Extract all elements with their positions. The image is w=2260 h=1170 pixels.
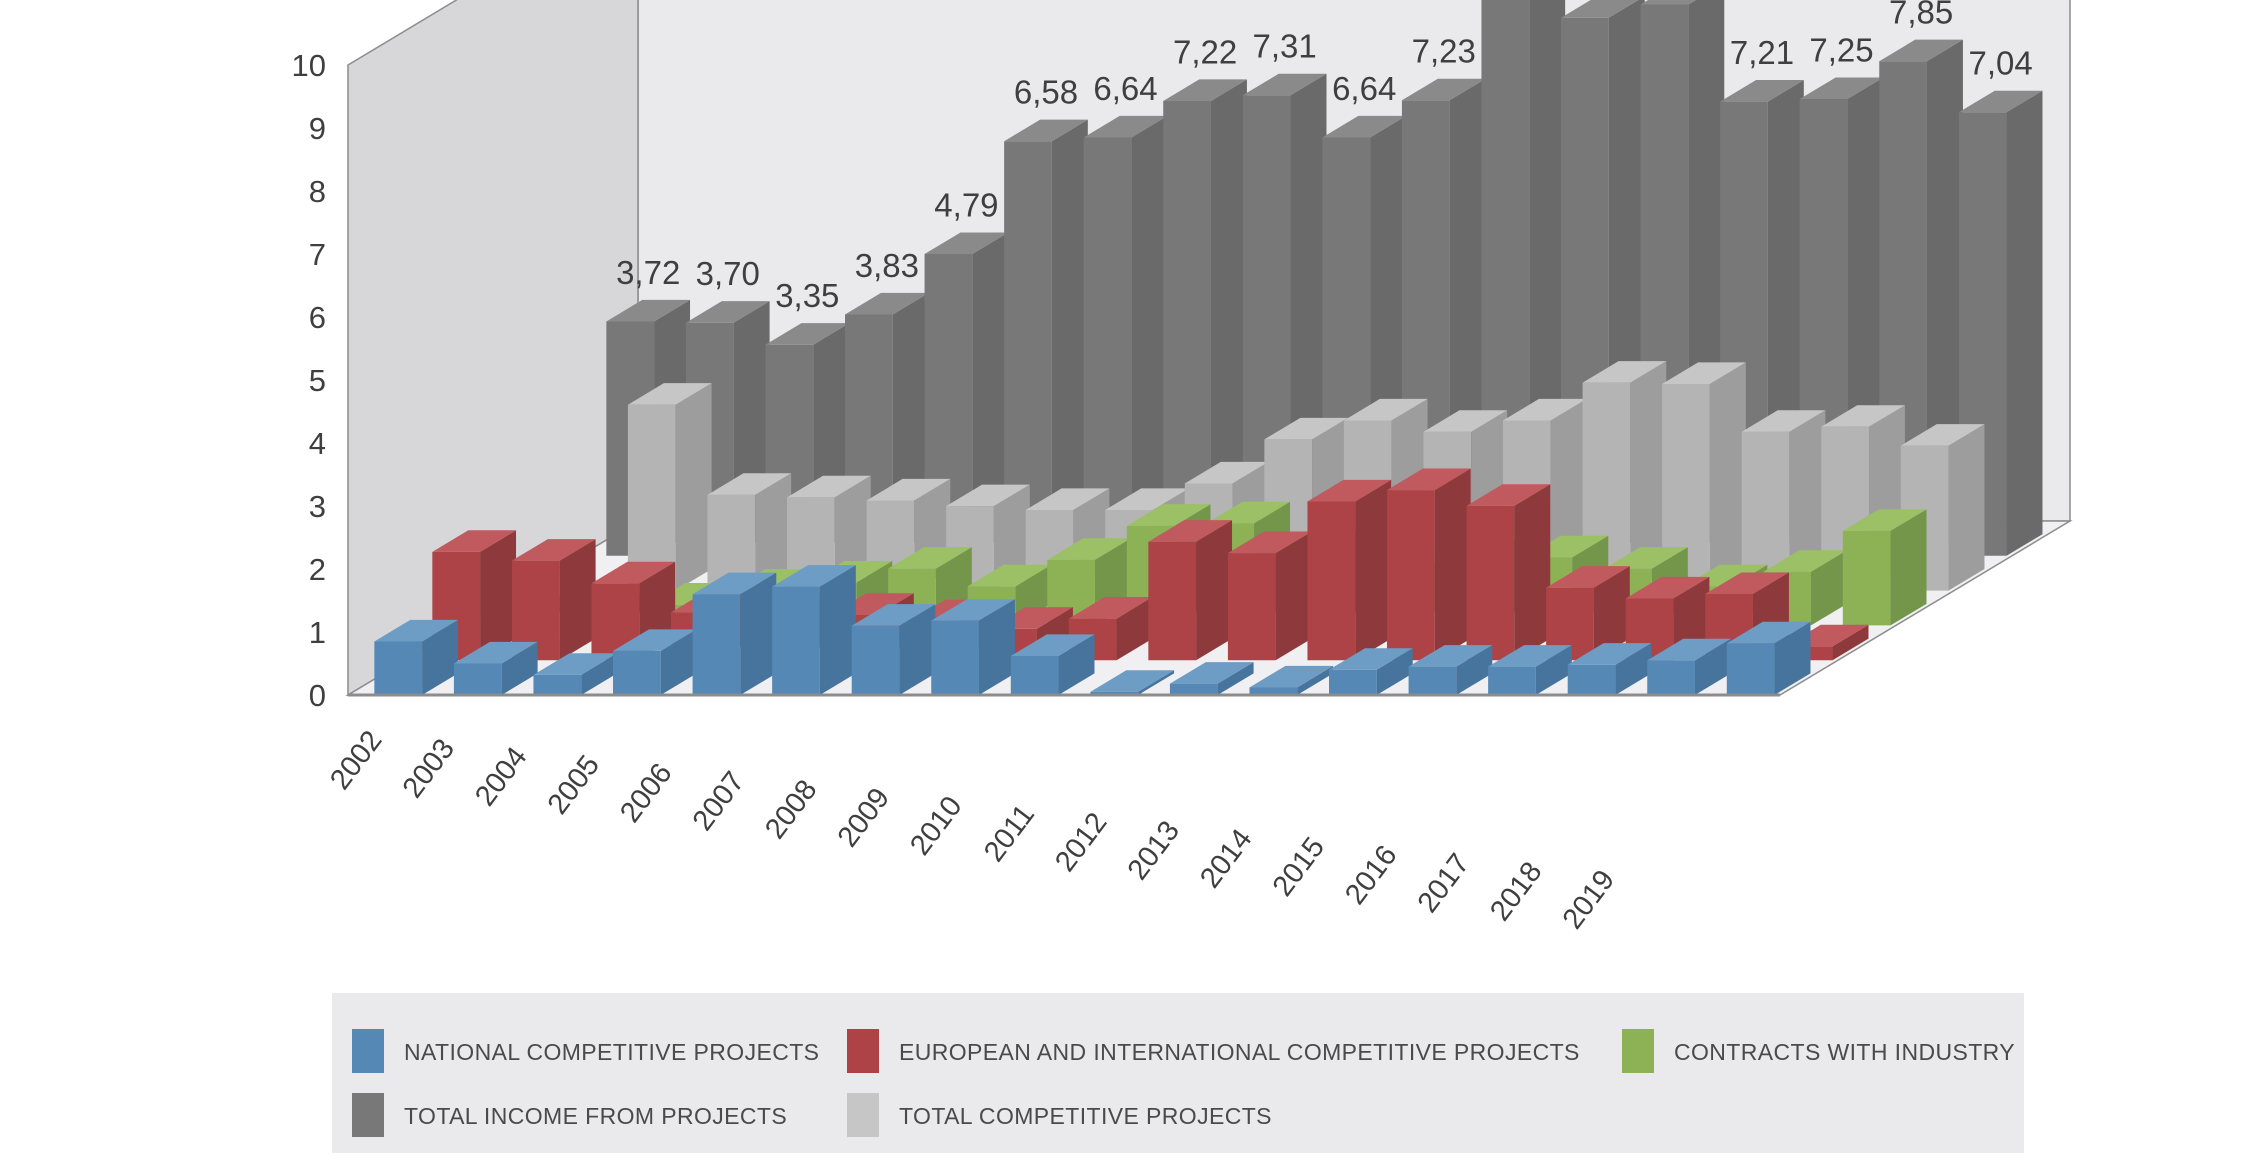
y-axis-tick-label: 5 (309, 363, 326, 398)
bar (772, 565, 856, 695)
legend-swatch (847, 1029, 879, 1073)
x-axis-category-label: 2010 (904, 791, 968, 862)
bar-front-face (1409, 667, 1457, 695)
y-axis-tick-label: 1 (309, 615, 326, 650)
x-axis-category-label: 2009 (832, 782, 896, 853)
bar-front-face (1647, 660, 1695, 695)
bar-front-face (1568, 665, 1616, 695)
bar-front-face (1488, 667, 1536, 695)
x-axis-category-label: 2019 (1557, 864, 1621, 935)
bar-value-label: 7,25 (1809, 31, 1873, 68)
bar (1387, 469, 1471, 661)
x-axis-category-label: 2015 (1267, 832, 1331, 903)
bar-side-face (1196, 520, 1232, 660)
bar-value-label: 7,85 (1889, 0, 1953, 31)
legend-swatch (352, 1093, 384, 1137)
x-axis-category-label: 2005 (542, 750, 606, 821)
bar (628, 383, 712, 590)
three-d-bar-chart: 0123456789103,723,703,353,834,796,586,64… (0, 0, 2260, 1170)
x-axis-category-label: 2004 (469, 741, 533, 812)
bar-front-face (1228, 553, 1276, 660)
bar (1148, 520, 1232, 660)
bar-value-label: 7,23 (1412, 33, 1476, 70)
bar-side-face (820, 565, 856, 695)
bar-side-face (2007, 91, 2043, 556)
bar-value-label: 6,64 (1093, 70, 1157, 107)
y-axis-tick-label: 8 (309, 174, 326, 209)
y-axis-tick-label: 4 (309, 426, 326, 461)
bar-front-face (1843, 531, 1891, 626)
y-axis-tick-label: 6 (309, 300, 326, 335)
x-axis-category-label: 2008 (759, 774, 823, 845)
x-axis-category-label: 2003 (397, 733, 461, 804)
bar-front-face (1148, 542, 1196, 660)
bar-front-face (1170, 684, 1218, 695)
y-axis-tick-label: 3 (309, 489, 326, 524)
bar-value-label: 7,21 (1730, 34, 1794, 71)
x-axis: 2002200320042005200620072008200920102011… (324, 725, 1621, 935)
bar-front-face (1011, 656, 1059, 695)
y-axis-tick-label: 10 (292, 48, 326, 83)
x-axis-category-label: 2006 (614, 758, 678, 829)
y-axis-tick-label: 2 (309, 552, 326, 587)
bar (931, 599, 1015, 695)
bar-side-face (1355, 480, 1391, 660)
bar-side-face (1710, 362, 1746, 590)
bar-front-face (533, 675, 581, 695)
y-axis-tick-label: 9 (309, 111, 326, 146)
legend-label: TOTAL INCOME FROM PROJECTS (404, 1103, 787, 1129)
bar-value-label: 7,22 (1173, 33, 1237, 70)
x-axis-category-label: 2018 (1484, 856, 1548, 927)
x-axis-category-label: 2017 (1412, 848, 1476, 919)
y-axis: 012345678910 (292, 48, 326, 713)
bar (1843, 509, 1927, 625)
bar-value-label: 4,79 (934, 186, 998, 223)
legend-label: NATIONAL COMPETITIVE PROJECTS (404, 1039, 819, 1065)
bar-front-face (852, 626, 900, 695)
x-axis-category-label: 2014 (1194, 823, 1258, 894)
bar (1228, 532, 1312, 661)
legend-label: EUROPEAN AND INTERNATIONAL COMPETITIVE P… (899, 1039, 1580, 1065)
bar-side-face (1435, 469, 1471, 661)
bar-front-face (772, 587, 820, 695)
bar-front-face (1307, 501, 1355, 660)
x-axis-category-label: 2016 (1339, 840, 1403, 911)
bar-front-face (693, 594, 741, 695)
bar-front-face (931, 621, 979, 695)
bar-value-label: 3,83 (855, 247, 919, 284)
legend-swatch (1622, 1029, 1654, 1073)
bar-side-face (676, 383, 712, 590)
bar-front-face (1387, 490, 1435, 660)
bar-front-face (1467, 506, 1515, 660)
x-axis-category-label: 2002 (324, 725, 388, 796)
legend-label: TOTAL COMPETITIVE PROJECTS (899, 1103, 1272, 1129)
x-axis-category-label: 2011 (978, 799, 1041, 868)
bar-front-face (374, 641, 422, 695)
bar-front-face (613, 651, 661, 695)
y-axis-tick-label: 0 (309, 678, 326, 713)
bar-value-label: 3,72 (616, 254, 680, 291)
bar-value-label: 7,31 (1253, 28, 1317, 65)
legend-swatch (847, 1093, 879, 1137)
x-axis-category-label: 2013 (1122, 815, 1186, 886)
bar-side-face (1514, 484, 1550, 660)
legend-label: CONTRACTS WITH INDUSTRY (1674, 1039, 2015, 1065)
y-axis-tick-label: 7 (309, 237, 326, 272)
bar-side-face (1949, 424, 1985, 590)
bar (1307, 480, 1391, 660)
bar-side-face (480, 530, 516, 660)
x-axis-category-label: 2012 (1049, 807, 1113, 878)
bar-value-label: 7,04 (1969, 45, 2033, 82)
chart-container: 0123456789103,723,703,353,834,796,586,64… (0, 0, 2260, 1170)
bar-front-face (454, 664, 502, 696)
bar (1467, 484, 1551, 660)
legend: NATIONAL COMPETITIVE PROJECTSEUROPEAN AN… (332, 993, 2024, 1153)
bar-front-face (1727, 643, 1775, 695)
bar-value-label: 6,58 (1014, 74, 1078, 111)
legend-swatch (352, 1029, 384, 1073)
bar-value-label: 3,35 (775, 277, 839, 314)
x-axis-category-label: 2007 (687, 766, 751, 837)
legend-background (332, 993, 2024, 1153)
bar-value-label: 3,70 (696, 255, 760, 292)
bar-value-label: 6,64 (1332, 70, 1396, 107)
bar-front-face (1329, 670, 1377, 695)
bar-side-face (740, 573, 776, 695)
bar-side-face (1276, 532, 1312, 661)
bar (693, 573, 777, 695)
